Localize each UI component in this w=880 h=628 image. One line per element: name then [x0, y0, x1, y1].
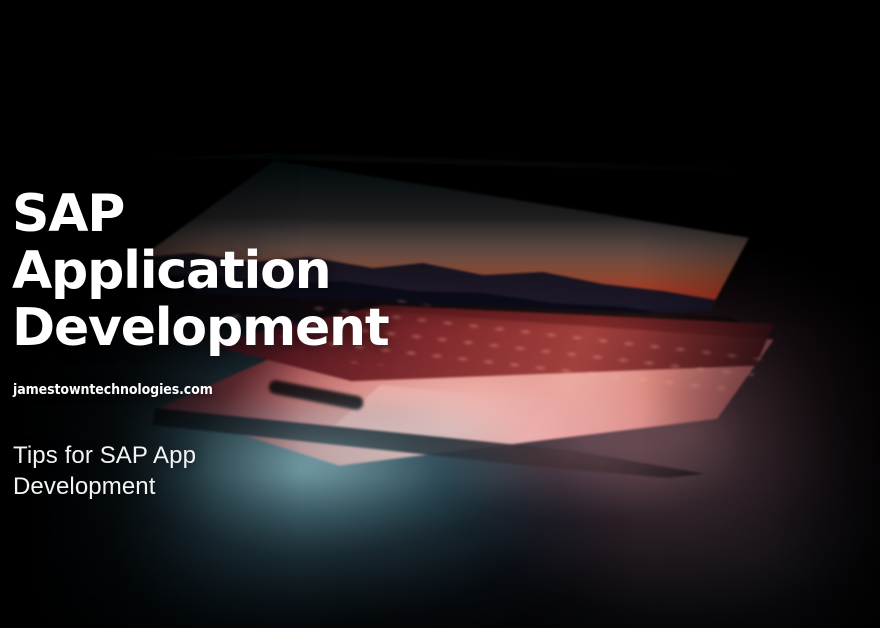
page-title: SAP Application Development — [12, 186, 532, 357]
subheadline: Tips for SAP App Development — [13, 440, 273, 502]
headline-line-2: Application — [12, 243, 532, 300]
headline-line-3: Development — [12, 300, 532, 357]
banner-canvas: SAP Application Development jamestowntec… — [0, 0, 880, 628]
subheadline-line-2: Development — [13, 471, 273, 502]
text-overlay: SAP Application Development jamestowntec… — [0, 0, 880, 628]
site-url[interactable]: jamestowntechnologies.com — [13, 382, 213, 399]
subheadline-line-1: Tips for SAP App — [13, 440, 273, 471]
headline-line-1: SAP — [12, 186, 532, 243]
